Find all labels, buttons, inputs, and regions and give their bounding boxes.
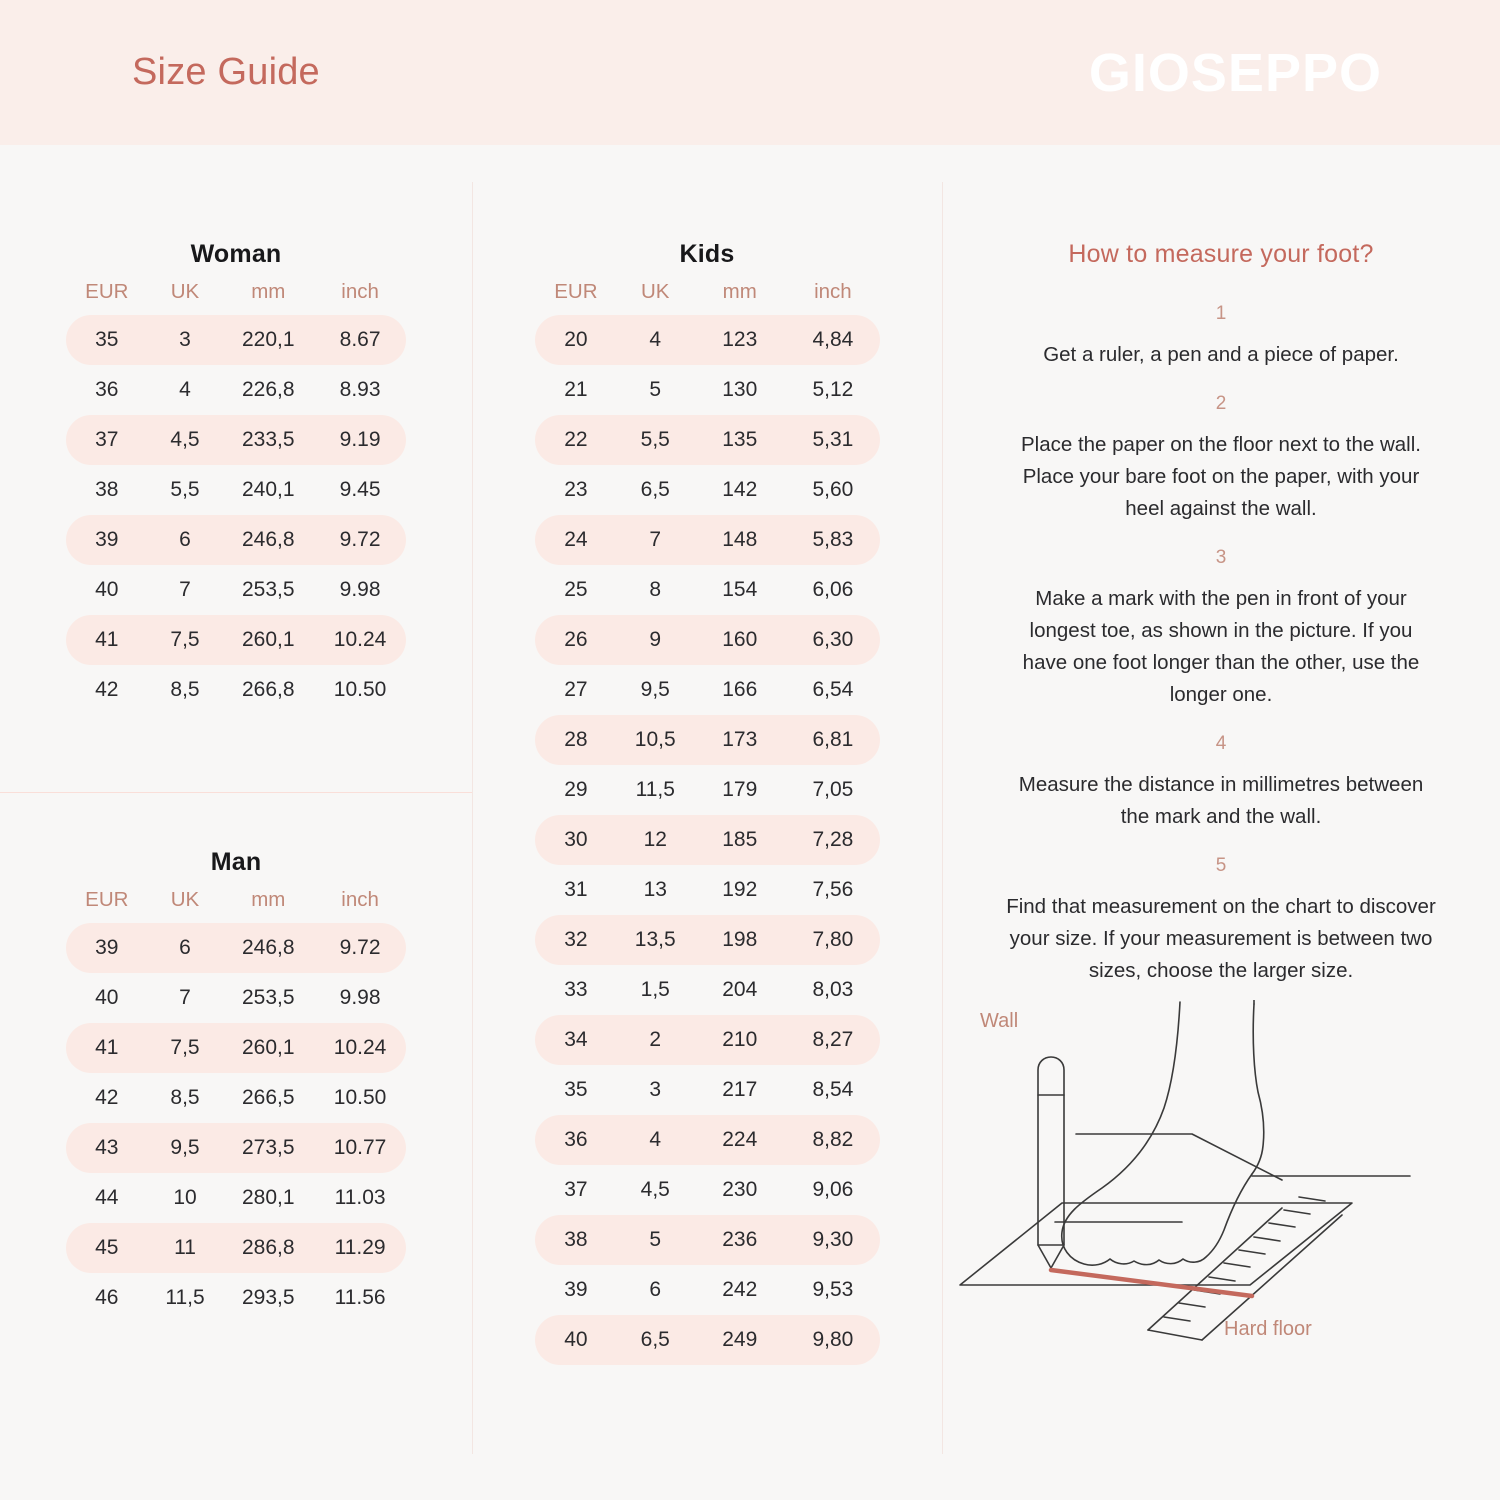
cell-uk: 3 [617,1078,693,1102]
cell-eur: 42 [66,1086,148,1110]
cell-mm: 236 [693,1228,786,1252]
cell-mm: 217 [693,1078,786,1102]
cell-mm: 266,8 [222,678,314,702]
table-row: 31131927,56 [535,865,880,915]
cell-eur: 42 [66,678,148,702]
illustration-svg [952,1000,1492,1400]
table-row: 406,52499,80 [535,1315,880,1365]
table-row: 4611,5293,511.56 [66,1273,406,1323]
cell-mm: 160 [693,628,786,652]
ruler-tick [1269,1223,1295,1227]
cell-uk: 5,5 [617,428,693,452]
cell-mm: 286,8 [222,1236,314,1260]
cell-mm: 192 [693,878,786,902]
cell-eur: 36 [535,1128,618,1152]
table-row: 407253,59.98 [66,973,406,1023]
table-row: 385,5240,19.45 [66,465,406,515]
table-row: 3852369,30 [535,1215,880,1265]
cell-uk: 7 [148,986,223,1010]
cell-inch: 8.93 [314,378,406,402]
foot-outline-heel [1252,1004,1264,1174]
table-row: 2581546,06 [535,565,880,615]
cell-mm: 246,8 [222,528,314,552]
ruler-tick [1224,1263,1250,1267]
cell-eur: 43 [66,1136,148,1160]
table-row: 3422108,27 [535,1015,880,1065]
cell-eur: 21 [535,378,618,402]
measure-step-text: Make a mark with the pen in front of you… [1006,583,1436,711]
measure-step-number: 5 [942,855,1500,877]
cell-uk: 13,5 [617,928,693,952]
table-row: 364226,88.93 [66,365,406,415]
cell-uk: 9,5 [617,678,693,702]
cell-eur: 25 [535,578,618,602]
cell-uk: 7 [617,528,693,552]
cell-uk: 4 [148,378,223,402]
cell-inch: 10.77 [314,1136,406,1160]
cell-inch: 9.72 [314,528,406,552]
cell-mm: 198 [693,928,786,952]
table-row: 331,52048,03 [535,965,880,1015]
cell-mm: 220,1 [222,328,314,352]
woman-rows: 353220,18.67364226,88.93374,5233,59.1938… [66,315,406,715]
cell-uk: 12 [617,828,693,852]
ruler-tick [1284,1210,1310,1214]
horizontal-divider-woman-man [0,792,472,793]
cell-inch: 9.45 [314,478,406,502]
cell-inch: 8,82 [786,1128,879,1152]
cell-eur: 45 [66,1236,148,1260]
table-row: 3642248,82 [535,1115,880,1165]
cell-uk: 8 [617,578,693,602]
table-row: 417,5260,110.24 [66,615,406,665]
table-row: 279,51666,54 [535,665,880,715]
cell-eur: 27 [535,678,618,702]
cell-eur: 39 [66,528,148,552]
measurement-mark-line [1051,1270,1252,1296]
measure-steps-list: 1Get a ruler, a pen and a piece of paper… [942,303,1500,987]
cell-inch: 4,84 [786,328,879,352]
cell-inch: 9,30 [786,1228,879,1252]
cell-mm: 179 [693,778,786,802]
cell-inch: 8.67 [314,328,406,352]
table-row: 2810,51736,81 [535,715,880,765]
cell-inch: 9,53 [786,1278,879,1302]
cell-uk: 11,5 [617,778,693,802]
cell-eur: 40 [66,578,148,602]
column-header-eur: EUR [535,280,618,304]
ruler-tick [1239,1250,1265,1254]
cell-uk: 7 [148,578,223,602]
column-header-eur: EUR [66,280,148,304]
cell-mm: 166 [693,678,786,702]
table-row: 353220,18.67 [66,315,406,365]
cell-mm: 135 [693,428,786,452]
cell-uk: 8,5 [148,1086,223,1110]
cell-inch: 8,27 [786,1028,879,1052]
cell-inch: 6,06 [786,578,879,602]
cell-mm: 240,1 [222,478,314,502]
ruler-edge-inner [1148,1208,1282,1330]
cell-uk: 2 [617,1028,693,1052]
cell-uk: 8,5 [148,678,223,702]
table-row: 3213,51987,80 [535,915,880,965]
cell-mm: 266,5 [222,1086,314,1110]
cell-eur: 23 [535,478,618,502]
table-row: 2151305,12 [535,365,880,415]
table-row: 2041234,84 [535,315,880,365]
man-rows: 396246,89.72407253,59.98417,5260,110.244… [66,923,406,1323]
cell-eur: 33 [535,978,618,1002]
cell-mm: 148 [693,528,786,552]
measure-step-number: 1 [942,303,1500,325]
cell-uk: 3 [148,328,223,352]
table-title-man: Man [0,848,472,877]
cell-eur: 34 [535,1028,618,1052]
cell-inch: 9,80 [786,1328,879,1352]
cell-inch: 6,54 [786,678,879,702]
ruler-tick [1164,1317,1190,1321]
size-table-woman: Woman EUR UK mm inch 353220,18.67364226,… [0,240,472,715]
cell-eur: 28 [535,728,618,752]
cell-eur: 41 [66,628,148,652]
table-header-row: EUR UK mm inch [66,877,406,923]
cell-eur: 22 [535,428,618,452]
cell-eur: 37 [535,1178,618,1202]
cell-mm: 204 [693,978,786,1002]
column-header-eur: EUR [66,888,148,912]
column-header-inch: inch [314,888,406,912]
ruler-tick [1179,1303,1205,1307]
table-title-woman: Woman [0,240,472,269]
cell-uk: 7,5 [148,628,223,652]
column-header-inch: inch [786,280,879,304]
measure-step-text: Get a ruler, a pen and a piece of paper. [1006,339,1436,371]
cell-mm: 230 [693,1178,786,1202]
cell-mm: 142 [693,478,786,502]
cell-mm: 260,1 [222,1036,314,1060]
cell-mm: 233,5 [222,428,314,452]
cell-inch: 9.98 [314,578,406,602]
cell-mm: 226,8 [222,378,314,402]
table-row: 374,5233,59.19 [66,415,406,465]
measure-step-number: 2 [942,393,1500,415]
cell-inch: 7,80 [786,928,879,952]
measure-step-text: Measure the distance in millimetres betw… [1006,769,1436,833]
cell-inch: 11.29 [314,1236,406,1260]
cell-inch: 5,12 [786,378,879,402]
cell-inch: 10.50 [314,1086,406,1110]
cell-eur: 40 [535,1328,618,1352]
cell-inch: 10.50 [314,678,406,702]
cell-mm: 210 [693,1028,786,1052]
table-row: 439,5273,510.77 [66,1123,406,1173]
column-header-mm: mm [693,280,786,304]
cell-mm: 293,5 [222,1286,314,1310]
cell-eur: 46 [66,1286,148,1310]
table-row: 30121857,28 [535,815,880,865]
cell-uk: 5,5 [148,478,223,502]
column-header-mm: mm [222,280,314,304]
cell-uk: 6,5 [617,1328,693,1352]
pencil-body [1038,1057,1064,1268]
cell-eur: 39 [535,1278,618,1302]
table-row: 225,51355,31 [535,415,880,465]
cell-eur: 36 [66,378,148,402]
cell-uk: 6,5 [617,478,693,502]
cell-mm: 173 [693,728,786,752]
cell-mm: 123 [693,328,786,352]
size-table-man: Man EUR UK mm inch 396246,89.72407253,59… [0,848,472,1323]
cell-eur: 38 [535,1228,618,1252]
table-row: 236,51425,60 [535,465,880,515]
table-row: 3962429,53 [535,1265,880,1315]
cell-inch: 7,28 [786,828,879,852]
cell-mm: 253,5 [222,986,314,1010]
cell-uk: 4,5 [617,1178,693,1202]
cell-eur: 24 [535,528,618,552]
illustration-label-hard-floor: Hard floor [1224,1318,1312,1341]
table-row: 428,5266,510.50 [66,1073,406,1123]
column-header-inch: inch [314,280,406,304]
table-row: 407253,59.98 [66,565,406,615]
ruler-tick [1254,1237,1280,1241]
cell-inch: 7,56 [786,878,879,902]
table-row: 396246,89.72 [66,923,406,973]
cell-uk: 10 [148,1186,223,1210]
cell-mm: 273,5 [222,1136,314,1160]
cell-uk: 5 [617,378,693,402]
table-row: 2691606,30 [535,615,880,665]
cell-eur: 20 [535,328,618,352]
cell-inch: 10.24 [314,628,406,652]
cell-eur: 35 [535,1078,618,1102]
cell-eur: 35 [66,328,148,352]
ruler-tick [1209,1277,1235,1281]
cell-inch: 9.19 [314,428,406,452]
table-header-row: EUR UK mm inch [535,269,880,315]
cell-inch: 6,81 [786,728,879,752]
cell-uk: 9,5 [148,1136,223,1160]
table-row: 4410280,111.03 [66,1173,406,1223]
column-header-uk: UK [148,888,223,912]
cell-uk: 1,5 [617,978,693,1002]
cell-mm: 280,1 [222,1186,314,1210]
right-column: How to measure your foot? 1Get a ruler, … [942,145,1500,1009]
size-table-kids: Kids EUR UK mm inch 2041234,842151305,12… [472,240,942,1365]
cell-mm: 185 [693,828,786,852]
cell-uk: 7,5 [148,1036,223,1060]
how-to-measure-title: How to measure your foot? [942,240,1500,269]
cell-uk: 6 [148,936,223,960]
cell-mm: 253,5 [222,578,314,602]
cell-uk: 4,5 [148,428,223,452]
cell-eur: 26 [535,628,618,652]
cell-eur: 44 [66,1186,148,1210]
table-row: 374,52309,06 [535,1165,880,1215]
table-row: 417,5260,110.24 [66,1023,406,1073]
table-row: 428,5266,810.50 [66,665,406,715]
cell-uk: 13 [617,878,693,902]
cell-eur: 30 [535,828,618,852]
cell-mm: 130 [693,378,786,402]
page-header: Size Guide GIOSEPPO [0,0,1500,145]
cell-uk: 10,5 [617,728,693,752]
cell-eur: 31 [535,878,618,902]
cell-inch: 7,05 [786,778,879,802]
cell-uk: 9 [617,628,693,652]
table-row: 2471485,83 [535,515,880,565]
cell-mm: 260,1 [222,628,314,652]
cell-inch: 11.03 [314,1186,406,1210]
cell-eur: 41 [66,1036,148,1060]
cell-uk: 6 [617,1278,693,1302]
cell-mm: 224 [693,1128,786,1152]
cell-uk: 6 [148,528,223,552]
cell-uk: 11 [148,1236,223,1260]
ruler-tick [1299,1197,1325,1201]
cell-inch: 5,83 [786,528,879,552]
cell-inch: 8,54 [786,1078,879,1102]
cell-eur: 37 [66,428,148,452]
woman-table-body: EUR UK mm inch 353220,18.67364226,88.933… [66,269,406,715]
cell-mm: 249 [693,1328,786,1352]
wall-base-line [1076,1134,1282,1180]
cell-uk: 4 [617,328,693,352]
table-row: 2911,51797,05 [535,765,880,815]
column-header-mm: mm [222,888,314,912]
cell-inch: 8,03 [786,978,879,1002]
brand-logo: GIOSEPPO [1089,46,1382,100]
table-header-row: EUR UK mm inch [66,269,406,315]
measure-step-number: 3 [942,547,1500,569]
measure-step-text: Find that measurement on the chart to di… [1006,891,1436,987]
table-row: 396246,89.72 [66,515,406,565]
measure-step-text: Place the paper on the floor next to the… [1006,429,1436,525]
cell-inch: 10.24 [314,1036,406,1060]
page-title: Size Guide [132,51,320,94]
cell-inch: 9,06 [786,1178,879,1202]
man-table-body: EUR UK mm inch 396246,89.72407253,59.984… [66,877,406,1323]
cell-inch: 5,60 [786,478,879,502]
cell-inch: 6,30 [786,628,879,652]
table-title-kids: Kids [472,240,942,269]
cell-eur: 40 [66,986,148,1010]
ruler-end [1148,1330,1202,1340]
foot-measure-illustration: Wall Hard floor [952,1000,1492,1400]
kids-table-body: EUR UK mm inch 2041234,842151305,12225,5… [535,269,880,1365]
content-area: Woman EUR UK mm inch 353220,18.67364226,… [0,145,1500,1500]
cell-eur: 32 [535,928,618,952]
column-header-uk: UK [617,280,693,304]
illustration-label-wall: Wall [980,1010,1018,1033]
cell-mm: 242 [693,1278,786,1302]
cell-eur: 29 [535,778,618,802]
cell-mm: 154 [693,578,786,602]
cell-uk: 11,5 [148,1286,223,1310]
cell-uk: 5 [617,1228,693,1252]
cell-eur: 38 [66,478,148,502]
cell-eur: 39 [66,936,148,960]
table-row: 3532178,54 [535,1065,880,1115]
cell-inch: 9.98 [314,986,406,1010]
cell-uk: 4 [617,1128,693,1152]
column-header-uk: UK [148,280,223,304]
cell-inch: 11.56 [314,1286,406,1310]
cell-mm: 246,8 [222,936,314,960]
measure-step-number: 4 [942,733,1500,755]
cell-inch: 5,31 [786,428,879,452]
cell-inch: 9.72 [314,936,406,960]
kids-rows: 2041234,842151305,12225,51355,31236,5142… [535,315,880,1365]
table-row: 4511286,811.29 [66,1223,406,1273]
